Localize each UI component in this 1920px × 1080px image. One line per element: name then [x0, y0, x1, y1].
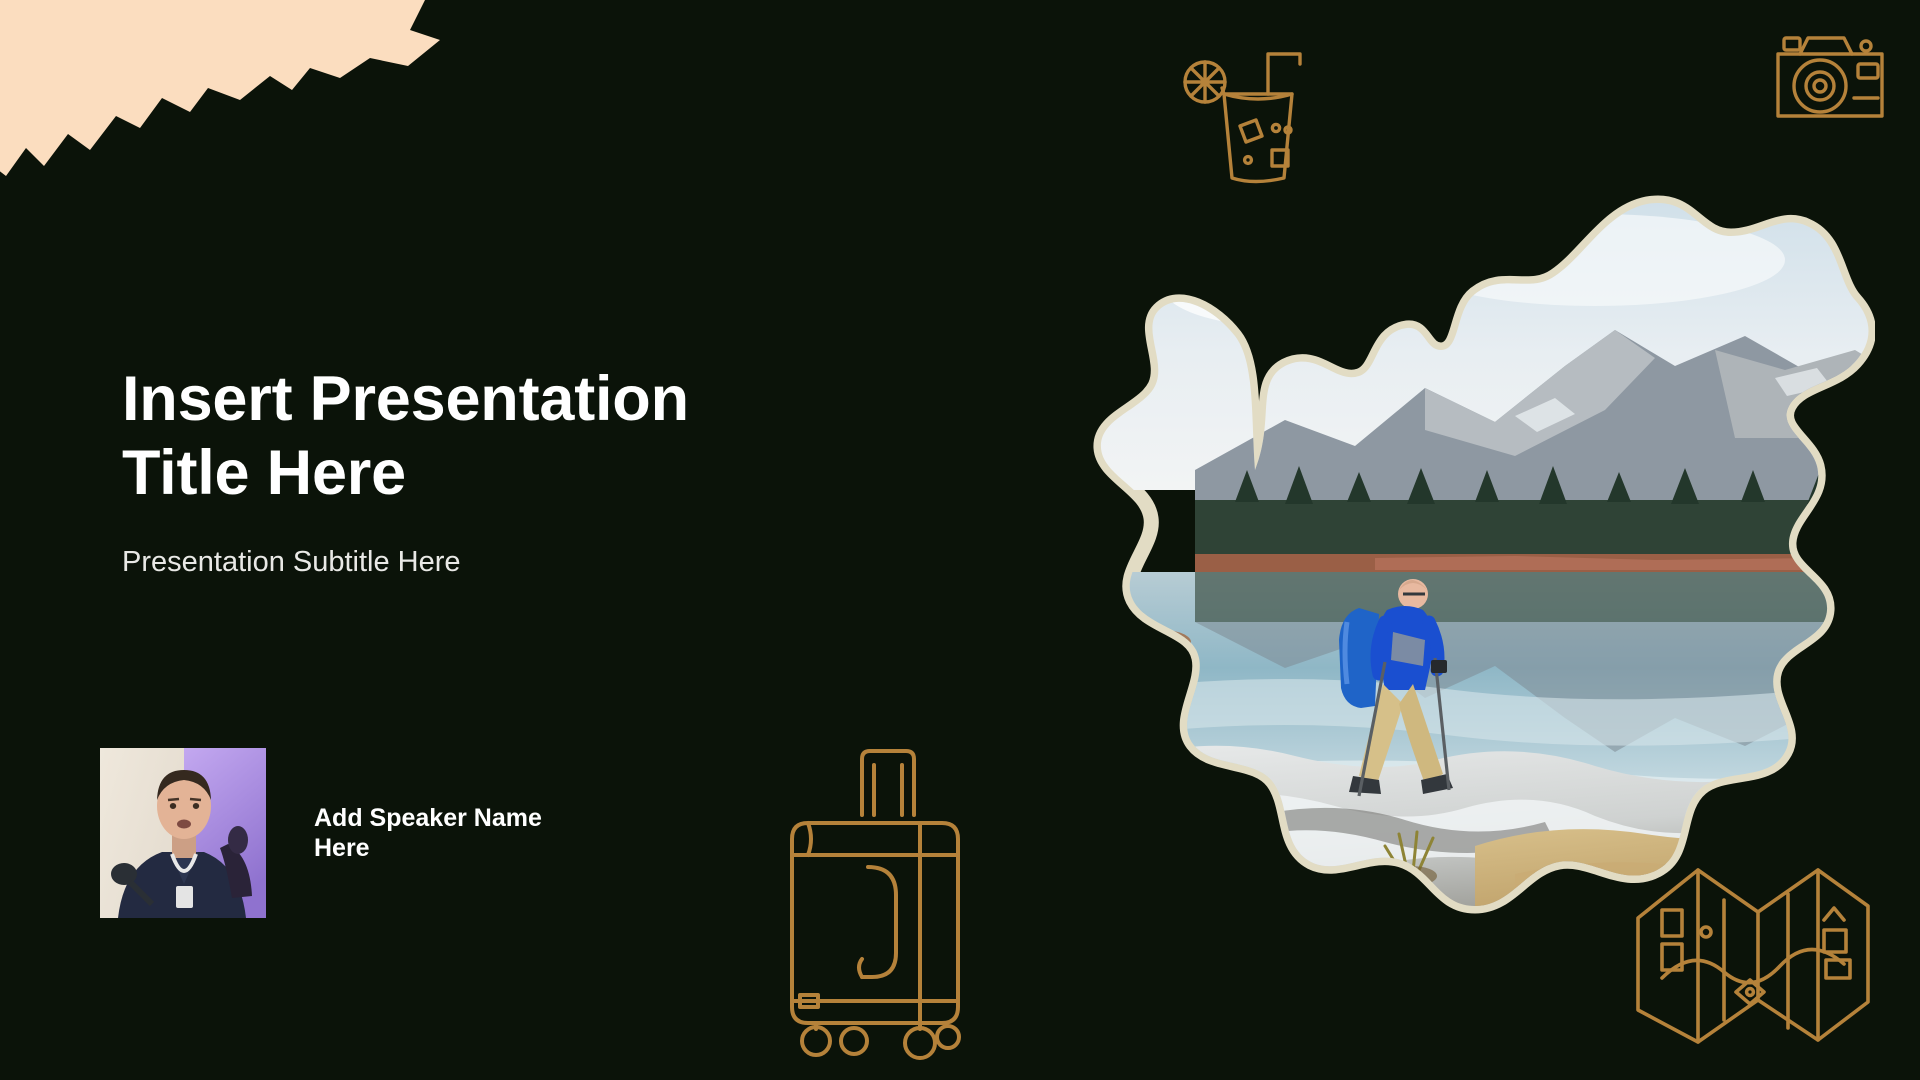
drink-glass-icon [1180, 38, 1310, 188]
page-subtitle: Presentation Subtitle Here [122, 545, 952, 580]
title-block: Insert Presentation Title Here Presentat… [122, 362, 952, 579]
peach-torn-blob-decoration [0, 0, 500, 250]
suitcase-icon [770, 745, 980, 1070]
page-title: Insert Presentation Title Here [122, 362, 952, 511]
camera-icon [1770, 20, 1890, 130]
speaker-name: Add Speaker Name Here [314, 803, 542, 864]
avatar [100, 748, 266, 918]
speaker-row: Add Speaker Name Here [100, 748, 542, 918]
hero-image [955, 170, 1875, 930]
presentation-slide: Insert Presentation Title Here Presentat… [0, 0, 1920, 1080]
